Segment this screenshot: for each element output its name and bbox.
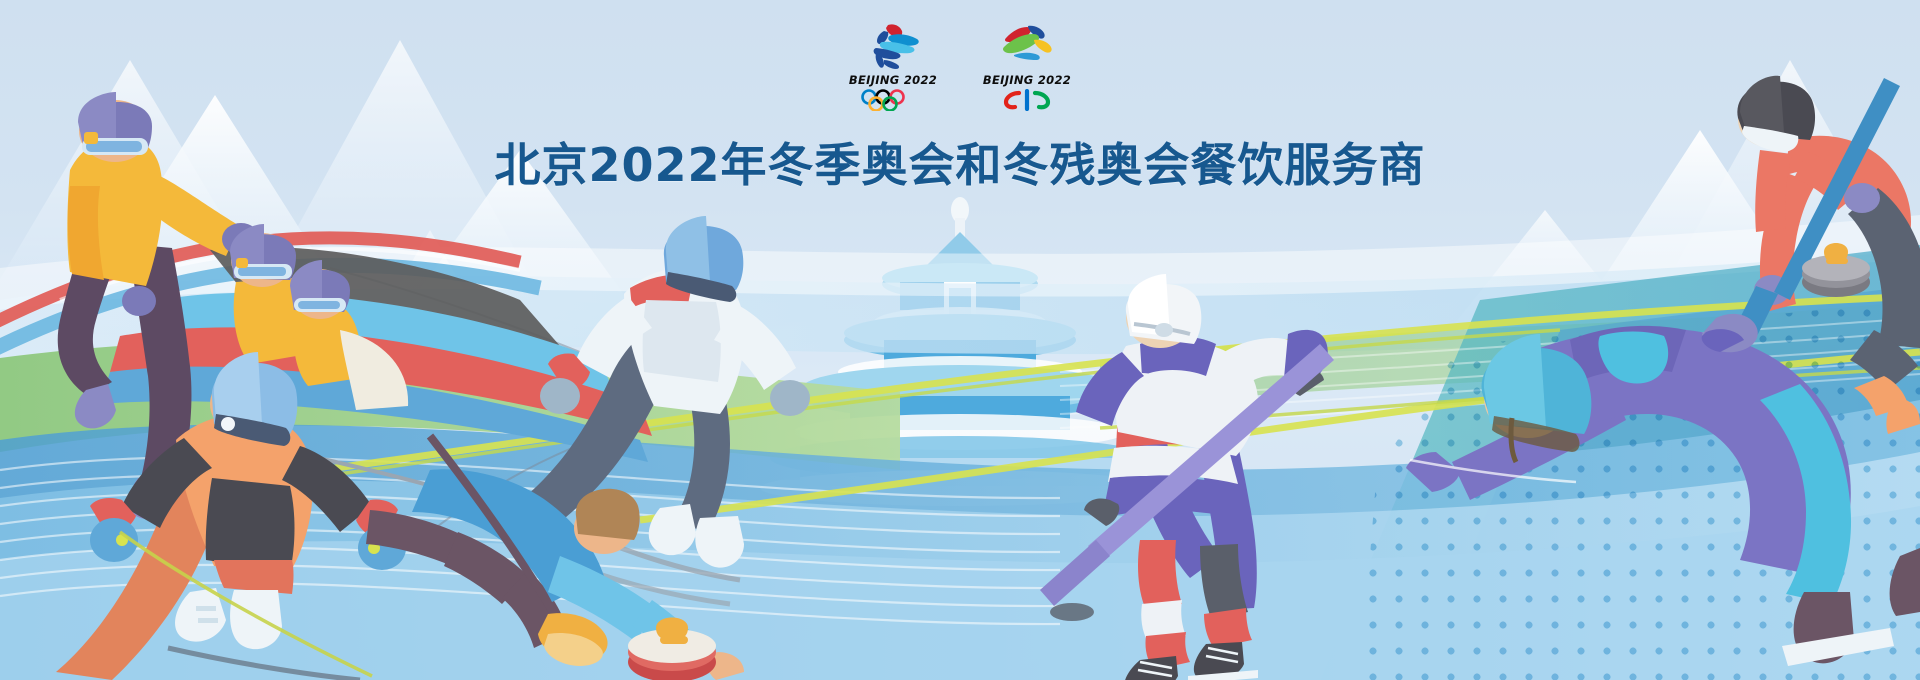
flying-high-icon	[979, 22, 1075, 70]
olympic-wordmark: BEIJING 2022	[845, 73, 941, 87]
beijing-2022-paralympic-emblem: BEIJING 2022	[979, 22, 1075, 113]
speed-skater-right	[1406, 326, 1920, 666]
page-title: 北京2022年冬季奥会和冬残奥会餐饮服务商	[494, 129, 1425, 195]
winter-dream-icon	[845, 22, 941, 70]
olympic-banner: BEIJING 2022	[0, 0, 1920, 680]
ice-hockey-player	[1040, 274, 1334, 680]
beijing-2022-olympic-emblem: BEIJING 2022	[845, 22, 941, 113]
emblem-row: BEIJING 2022	[845, 22, 1075, 113]
banner-header: BEIJING 2022	[0, 0, 1920, 210]
paralympic-agitos-icon	[979, 89, 1075, 113]
paralympic-wordmark: BEIJING 2022	[979, 73, 1075, 87]
olympic-rings-icon	[845, 89, 941, 113]
